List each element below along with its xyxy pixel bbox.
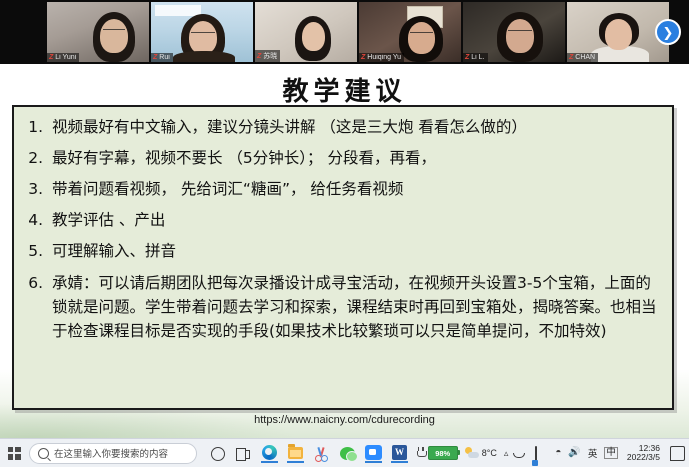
battery-percent: 98% bbox=[428, 446, 458, 460]
slide-content-box: 视频最好有中文输入，建议分镜头讲解 （这是三大炮 看看怎么做的） 最好有字幕，视… bbox=[12, 105, 674, 410]
search-placeholder: 在这里输入你要搜索的内容 bbox=[54, 446, 168, 460]
participant-name: 苏晓 bbox=[263, 51, 277, 61]
snipping-tool-icon[interactable] bbox=[313, 445, 330, 462]
background-logo bbox=[155, 5, 201, 16]
participant-face bbox=[302, 22, 325, 51]
file-explorer-icon[interactable] bbox=[287, 444, 304, 463]
participant-name: CHAN bbox=[575, 54, 595, 61]
weather-widget[interactable]: 8°C bbox=[465, 447, 497, 459]
start-button[interactable] bbox=[0, 439, 28, 467]
wechat-icon[interactable] bbox=[339, 445, 356, 462]
glasses-icon bbox=[103, 29, 125, 36]
list-item: 带着问题看视频， 先给词汇“糖画”， 给任务看视频 bbox=[48, 177, 662, 202]
battery-status[interactable]: 98% bbox=[416, 446, 458, 460]
participant-tile[interactable]: Z Li L. bbox=[463, 2, 565, 62]
ime-mode-indicator[interactable]: 中 bbox=[604, 447, 618, 459]
participant-name-bar: Z Li Yuni bbox=[47, 53, 79, 62]
chevron-right-icon[interactable]: ❯ bbox=[655, 19, 681, 45]
word-icon[interactable]: W bbox=[391, 444, 408, 463]
screen: Z Li Yuni Z Rui bbox=[0, 0, 689, 467]
slide-url: https://www.naicny.com/cdurecording bbox=[0, 414, 689, 426]
wifi-icon[interactable]: ◓ bbox=[555, 448, 561, 458]
zoom-mute-icon: Z bbox=[153, 54, 157, 61]
task-view-icon[interactable] bbox=[235, 445, 252, 462]
list-item: 可理解输入、拼音 bbox=[48, 239, 662, 264]
participant-face bbox=[100, 19, 128, 53]
weather-icon bbox=[465, 447, 479, 459]
page-title: 教学建议 bbox=[0, 71, 689, 108]
zoom-mute-icon: Z bbox=[569, 54, 573, 61]
windows-logo-icon bbox=[8, 447, 21, 460]
word-letter: W bbox=[392, 445, 407, 460]
list-item: 最好有字幕，视频不要长 （5分钟长）； 分段看，再看， bbox=[48, 146, 662, 171]
microphone-icon[interactable] bbox=[515, 447, 528, 460]
display-settings-icon[interactable] bbox=[535, 447, 548, 460]
participant-name-bar: Z Huiqing Yu bbox=[359, 53, 404, 62]
edge-icon[interactable] bbox=[261, 444, 278, 463]
participant-tile[interactable]: Z CHAN bbox=[567, 2, 669, 62]
ime-language-indicator[interactable]: 英 bbox=[588, 446, 598, 460]
glasses-icon bbox=[508, 30, 532, 37]
participant-name: Rui bbox=[159, 54, 170, 61]
clock-date: 2022/3/5 bbox=[627, 453, 660, 462]
participant-tile[interactable]: Z 苏晓 bbox=[255, 2, 357, 62]
zoom-mute-icon: Z bbox=[465, 54, 469, 61]
zoom-mute-icon: Z bbox=[49, 54, 53, 61]
participant-name: Li L. bbox=[471, 54, 484, 61]
shared-slide: 教学建议 视频最好有中文输入，建议分镜头讲解 （这是三大炮 看看怎么做的） 最好… bbox=[0, 64, 689, 439]
participant-name-bar: Z CHAN bbox=[567, 53, 598, 62]
participant-name-bar: Z 苏晓 bbox=[255, 50, 280, 62]
chevron-up-icon[interactable]: ▵ bbox=[504, 448, 509, 459]
search-icon bbox=[38, 448, 49, 459]
list-item: 承婧：可以请后期团队把每次录播设计成寻宝活动，在视频开头设置3-5个宝箱，上面的… bbox=[48, 271, 662, 344]
volume-icon[interactable]: 🔊 bbox=[568, 448, 580, 458]
glasses-icon bbox=[410, 32, 433, 39]
system-tray: 98% 8°C ▵ ◓ 🔊 英 中 12:36 2022/3/5 bbox=[416, 444, 685, 462]
glasses-icon bbox=[191, 32, 215, 39]
participant-name-bar: Z Rui bbox=[151, 53, 173, 62]
cortana-icon[interactable] bbox=[209, 445, 226, 462]
participant-body bbox=[173, 51, 235, 62]
participant-tile[interactable]: Z Li Yuni bbox=[47, 2, 149, 62]
list-item: 视频最好有中文输入，建议分镜头讲解 （这是三大炮 看看怎么做的） bbox=[48, 115, 662, 140]
zoom-mute-icon: Z bbox=[361, 54, 365, 61]
participant-face bbox=[605, 19, 632, 50]
participant-tile[interactable]: Z Huiqing Yu bbox=[359, 2, 461, 62]
weather-temperature: 8°C bbox=[482, 448, 497, 458]
participant-name-bar: Z Li L. bbox=[463, 53, 488, 62]
zoom-icon[interactable] bbox=[365, 444, 382, 463]
participant-tile-active-speaker[interactable]: Z Rui bbox=[151, 2, 253, 62]
windows-taskbar: 在这里输入你要搜索的内容 W 98% bbox=[0, 438, 689, 467]
suggestion-list: 视频最好有中文输入，建议分镜头讲解 （这是三大炮 看看怎么做的） 最好有字幕，视… bbox=[22, 115, 662, 343]
participant-tiles: Z Li Yuni Z Rui bbox=[47, 2, 669, 62]
zoom-mute-icon: Z bbox=[257, 53, 261, 60]
participant-name: Huiqing Yu bbox=[367, 54, 401, 61]
list-item: 教学评估 、产出 bbox=[48, 208, 662, 233]
clock[interactable]: 12:36 2022/3/5 bbox=[627, 444, 660, 462]
search-input[interactable]: 在这里输入你要搜索的内容 bbox=[29, 443, 197, 464]
participant-name: Li Yuni bbox=[55, 54, 76, 61]
notifications-icon[interactable] bbox=[670, 446, 685, 461]
power-plug-icon bbox=[416, 447, 426, 459]
zoom-video-filmstrip: Z Li Yuni Z Rui bbox=[0, 0, 689, 64]
taskbar-app-icons: W bbox=[209, 444, 408, 463]
